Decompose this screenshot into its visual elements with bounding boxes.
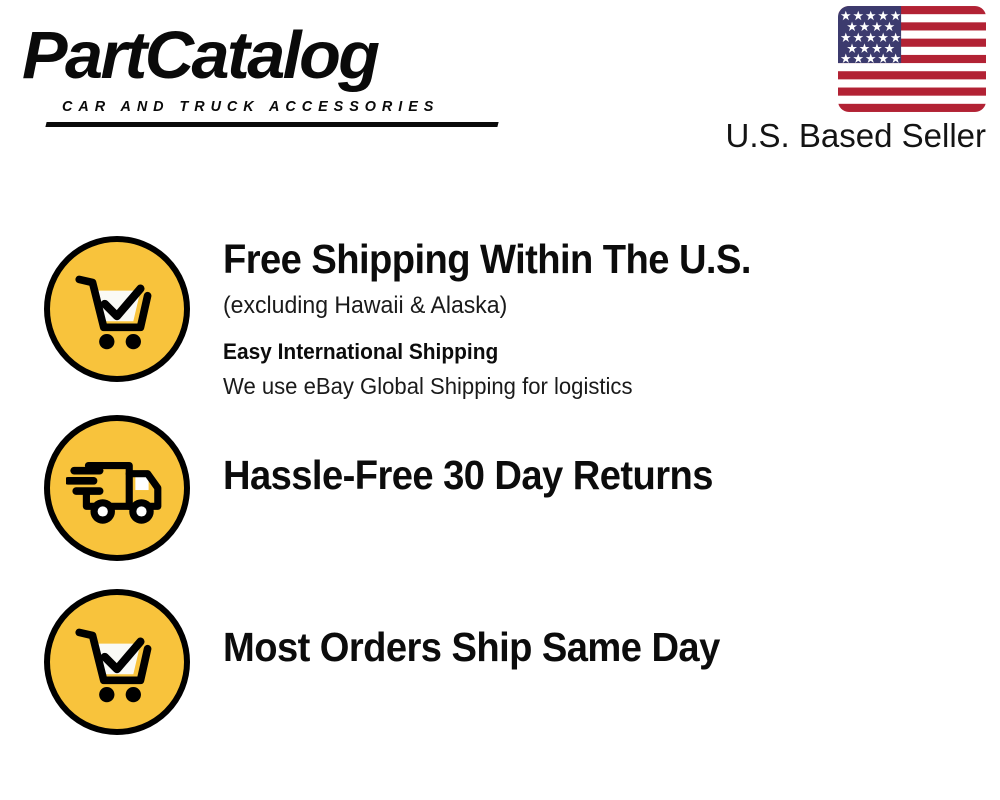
brand-logo: PartCatalog CAR AND TRUCK ACCESSORIES [22,22,492,114]
feature-text-block: Free Shipping Within The U.S. (excluding… [223,236,1000,400]
feature-row: Most Orders Ship Same Day [0,578,1000,748]
promo-banner: PartCatalog CAR AND TRUCK ACCESSORIES [0,0,1000,800]
brand-wordmark: PartCatalog [22,22,378,89]
feature-row: Free Shipping Within The U.S. (excluding… [0,236,1000,406]
us-based-seller-badge: U.S. Based Seller [716,6,986,154]
feature-list: Free Shipping Within The U.S. (excluding… [0,236,1000,748]
fast-delivery-truck-icon [44,415,190,561]
international-shipping-subtitle: We use eBay Global Shipping for logistic… [223,372,969,400]
feature-text-block: Most Orders Ship Same Day [223,578,1000,669]
us-based-seller-label: U.S. Based Seller [716,118,986,154]
feature-text-block: Hassle-Free 30 Day Returns [223,406,1000,497]
shopping-cart-check-icon [44,589,190,735]
international-shipping-title: Easy International Shipping [223,339,961,365]
feature-headline: Free Shipping Within The U.S. [223,238,946,281]
shopping-cart-check-icon [44,236,190,382]
feature-row: Hassle-Free 30 Day Returns [0,406,1000,578]
feature-subline: (excluding Hawaii & Alaska) [223,291,969,321]
feature-headline: Most Orders Ship Same Day [223,626,946,669]
brand-underline-rule [45,122,498,127]
feature-headline: Hassle-Free 30 Day Returns [223,454,946,497]
us-flag-icon [838,6,986,112]
brand-tagline: CAR AND TRUCK ACCESSORIES [62,98,439,115]
